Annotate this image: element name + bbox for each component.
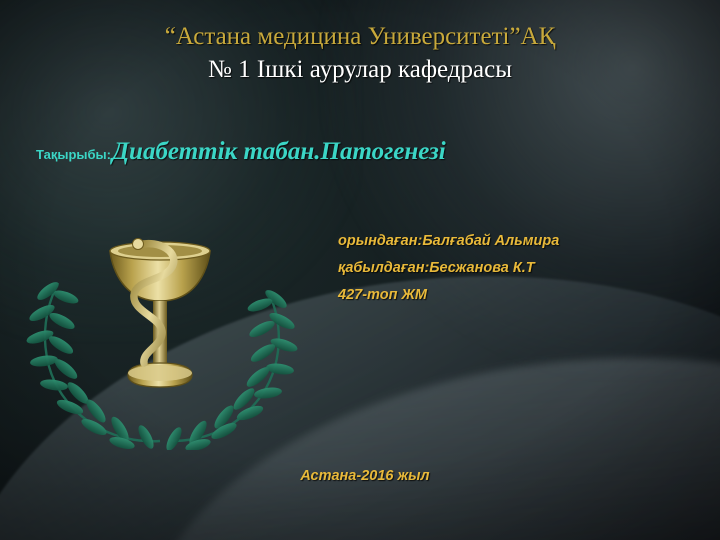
slide-footer: Астана-2016 жыл <box>0 468 720 484</box>
department-name: № 1 Ішкі аурулар кафедрасы <box>0 55 720 85</box>
topic-label: Тақырыбы: <box>36 147 111 162</box>
credits-block: орындаған:Балғабай Альмира қабылдаған:Бе… <box>338 228 698 308</box>
presentation-slide: “Астана медицина Университеті”АҚ № 1 Ішк… <box>0 0 720 540</box>
credit-accepted-by: қабылдаған:Бесжанова К.Т <box>338 255 698 282</box>
slide-header: “Астана медицина Университеті”АҚ № 1 Ішк… <box>0 22 720 84</box>
topic-value: Диабеттік табан.Патогенезі <box>112 138 446 166</box>
topic-row: Тақырыбы: Диабеттік табан.Патогенезі <box>36 138 696 166</box>
credit-performed-by: орындаған:Балғабай Альмира <box>338 228 698 255</box>
footer-city-year: Астана-2016 жыл <box>290 468 429 484</box>
bowl-of-hygieia-icon <box>10 205 310 450</box>
university-name: “Астана медицина Университеті”АҚ <box>0 22 720 52</box>
credit-group: 427-топ ЖМ <box>338 282 698 309</box>
